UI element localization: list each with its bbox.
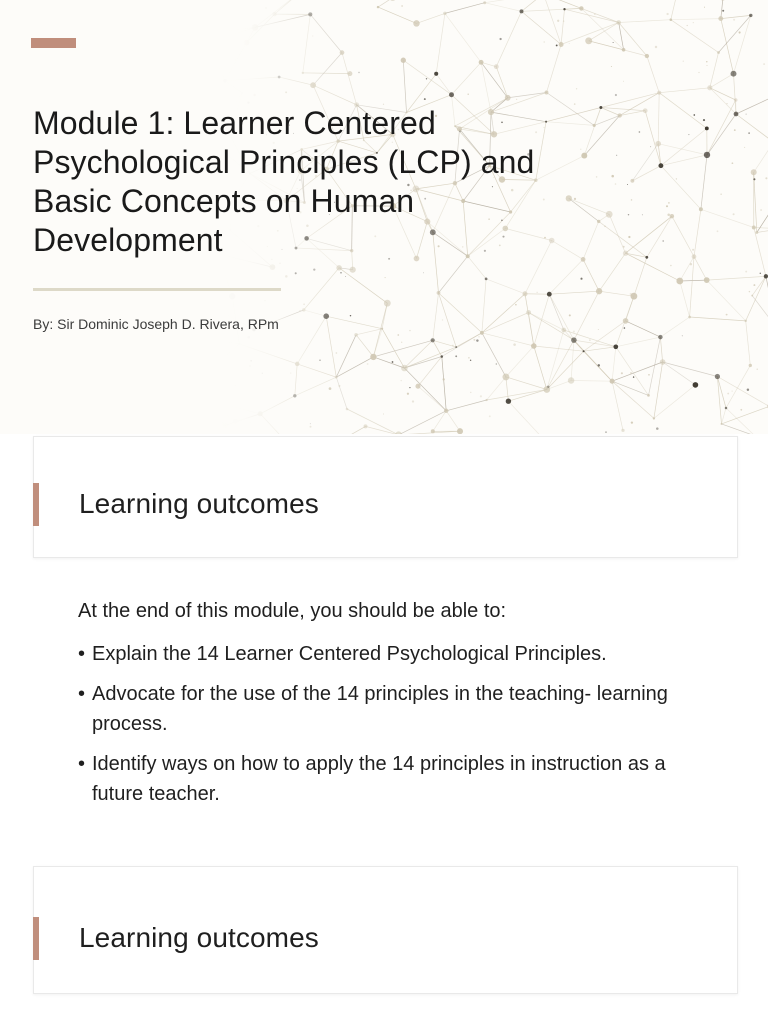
content-lead-text: At the end of this module, you should be…	[78, 597, 678, 625]
list-item-label: Identify ways on how to apply the 14 pri…	[92, 753, 666, 805]
list-item-label: Advocate for the use of the 14 principle…	[92, 683, 668, 735]
card-heading: Learning outcomes	[79, 487, 319, 521]
learning-outcomes-content: At the end of this module, you should be…	[78, 597, 678, 809]
page-title: Module 1: Learner Centered Psychological…	[33, 104, 593, 260]
list-item-label: Explain the 14 Learner Centered Psycholo…	[92, 643, 607, 665]
list-item: • Identify ways on how to apply the 14 p…	[78, 749, 678, 809]
card-heading: Learning outcomes	[79, 921, 319, 955]
learning-outcomes-card-bottom: Learning outcomes	[33, 866, 738, 994]
author-byline: By: Sir Dominic Joseph D. Rivera, RPm	[33, 314, 293, 334]
accent-bar-top	[31, 38, 76, 48]
bullet-icon: •	[78, 679, 85, 709]
outcomes-bullet-list: • Explain the 14 Learner Centered Psycho…	[78, 639, 678, 809]
hero-section: Module 1: Learner Centered Psychological…	[0, 0, 768, 434]
title-divider-rule	[33, 288, 281, 291]
list-item: • Advocate for the use of the 14 princip…	[78, 679, 678, 739]
card-accent-bar	[33, 917, 39, 960]
learning-outcomes-card-top: Learning outcomes	[33, 436, 738, 558]
card-accent-bar	[33, 483, 39, 526]
list-item: • Explain the 14 Learner Centered Psycho…	[78, 639, 678, 669]
bullet-icon: •	[78, 749, 85, 779]
bullet-icon: •	[78, 639, 85, 669]
